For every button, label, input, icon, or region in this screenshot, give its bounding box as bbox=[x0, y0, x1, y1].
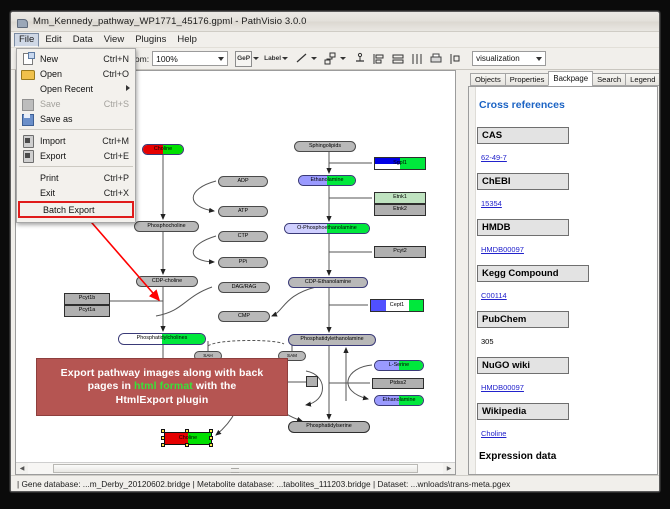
annotation-line-2b: with the bbox=[193, 380, 236, 392]
node-label: Etnk2 bbox=[393, 207, 407, 212]
line-dropdown-icon[interactable] bbox=[311, 57, 317, 60]
menu-item-new[interactable]: New Ctrl+N bbox=[17, 51, 135, 66]
side-panel: Objects Properties Backpage Search Legen… bbox=[460, 70, 658, 475]
pathway-node-ctp[interactable]: CTP bbox=[218, 231, 268, 242]
node-label: Etnk1 bbox=[393, 195, 407, 200]
expression-data-title: Expression data bbox=[479, 451, 649, 462]
xref-block-cas: CAS 62-49-7 bbox=[477, 127, 649, 173]
node-label: Pcyt1b bbox=[79, 296, 95, 301]
interaction-tool-button[interactable] bbox=[322, 51, 339, 67]
chevron-down-icon bbox=[536, 57, 542, 61]
export-icon bbox=[20, 149, 36, 162]
pathway-node-phosphatidylethanolamine[interactable]: Phosphatidylethanolamine bbox=[288, 334, 376, 346]
menu-item-open-recent-label: Open Recent bbox=[40, 84, 135, 94]
save-icon bbox=[20, 97, 36, 110]
open-folder-icon bbox=[20, 67, 36, 80]
node-label: O-Phosphoethanolamine bbox=[297, 226, 357, 231]
blank-icon bbox=[20, 186, 36, 199]
pathway-node-sgpl1[interactable]: Sgpl1 bbox=[374, 157, 426, 170]
backpage-inner: Cross references CAS 62-49-7 ChEBI 15354… bbox=[469, 87, 657, 466]
menu-item-print-label: Print bbox=[40, 173, 104, 183]
xref-block-kegg: Kegg Compound C00114 bbox=[477, 265, 649, 311]
node-label: CTP bbox=[238, 234, 249, 239]
selection-handle-se[interactable] bbox=[209, 443, 213, 447]
pathway-node-l-serine[interactable]: L-Serine bbox=[374, 360, 424, 371]
xref-value-link[interactable]: C00114 bbox=[481, 291, 507, 300]
selection-handle-s[interactable] bbox=[185, 443, 189, 447]
layout-tool-button[interactable] bbox=[446, 51, 463, 67]
cross-references-title: Cross references bbox=[479, 99, 649, 111]
node-label: Choline bbox=[154, 147, 172, 152]
interaction-icon bbox=[324, 52, 337, 65]
pathway-node-o-phosphoethanolamine[interactable]: O-Phosphoethanolamine bbox=[284, 223, 370, 234]
menu-item-export-accel: Ctrl+E bbox=[104, 151, 135, 161]
node-label: Pcyt2 bbox=[393, 249, 406, 254]
node-label: CDP-choline bbox=[152, 279, 182, 284]
pathway-node-ethanolamine-2[interactable]: Ethanolamine bbox=[374, 395, 424, 406]
xref-db-name: ChEBI bbox=[477, 173, 569, 190]
xref-db-name: PubChem bbox=[477, 311, 569, 328]
selection-handle-ne[interactable] bbox=[209, 429, 213, 433]
scroll-right-icon[interactable]: ▶ bbox=[443, 463, 455, 474]
blank-icon bbox=[20, 171, 36, 184]
pathway-node-cept1[interactable]: Cept1 bbox=[370, 299, 424, 312]
anchor-icon bbox=[353, 52, 367, 66]
pathway-node-ptdss2[interactable]: Ptdss2 bbox=[372, 378, 424, 389]
node-label: Phosphatidylethanolamine bbox=[300, 337, 363, 342]
screenshot-root: Mm_Kennedy_pathway_WP1771_45176.gpml - P… bbox=[0, 0, 670, 509]
xref-block-nugo: NuGO wiki HMDB00097 bbox=[477, 357, 649, 403]
menu-item-save-label: Save bbox=[40, 99, 104, 109]
pathway-node-phosphocholine[interactable]: Phosphocholine bbox=[134, 221, 199, 232]
side-panel-tabs: Objects Properties Backpage Search Legen… bbox=[460, 70, 658, 86]
menu-data[interactable]: Data bbox=[68, 33, 98, 47]
pathway-node-ethanolamine-1[interactable]: Ethanolamine bbox=[298, 175, 356, 186]
node-label: PPi bbox=[239, 260, 247, 265]
distribute-tool-button[interactable] bbox=[408, 51, 425, 67]
node-label: DAG/RAG bbox=[232, 285, 257, 290]
annotation-line-3: HtmlExport plugin bbox=[116, 394, 209, 406]
tab-properties[interactable]: Properties bbox=[505, 73, 550, 86]
status-text: | Gene database: ...m_Derby_20120602.bri… bbox=[17, 479, 510, 489]
xref-db-name: Kegg Compound bbox=[477, 265, 589, 282]
scrollbar-track[interactable] bbox=[28, 463, 443, 474]
xref-block-wikipedia: Wikipedia Choline bbox=[477, 403, 649, 449]
pathway-node-pcyt1a[interactable]: Pcyt1a bbox=[64, 305, 110, 317]
menu-item-save-as[interactable]: Save as bbox=[17, 111, 135, 126]
geneproduct-tool-button[interactable]: GeP bbox=[235, 51, 252, 67]
menu-view[interactable]: View bbox=[99, 33, 129, 47]
save-as-icon bbox=[20, 112, 36, 125]
xref-db-name: Wikipedia bbox=[477, 403, 569, 420]
node-label: Sphingolipids bbox=[309, 144, 341, 149]
xref-value-link[interactable]: HMDB00097 bbox=[481, 383, 524, 392]
stack-tool-button[interactable] bbox=[389, 51, 406, 67]
blank-icon bbox=[20, 82, 36, 95]
distribute-icon bbox=[410, 52, 424, 66]
window-title: Mm_Kennedy_pathway_WP1771_45176.gpml - P… bbox=[33, 16, 307, 27]
xref-value-link[interactable]: 62-49-7 bbox=[481, 153, 507, 162]
chevron-right-icon bbox=[126, 85, 130, 91]
xref-value-text: 305 bbox=[481, 337, 494, 346]
geneproduct-dropdown-icon[interactable] bbox=[253, 57, 259, 60]
node-label: ADP bbox=[237, 179, 248, 184]
node-label: Pcyt1a bbox=[79, 308, 95, 313]
pathway-node-phosphatidylserine[interactable]: Phosphatidylserine bbox=[288, 421, 370, 433]
annotation-line-1: Export pathway images along with back bbox=[61, 367, 264, 379]
selection-handle-nw[interactable] bbox=[161, 429, 165, 433]
node-label: Ptdss2 bbox=[390, 381, 406, 386]
print-tool-button[interactable] bbox=[427, 51, 444, 67]
menu-item-save-as-label: Save as bbox=[40, 114, 129, 124]
pathway-node-sphingolipids[interactable]: Sphingolipids bbox=[294, 141, 356, 152]
scrollbar-thumb[interactable] bbox=[53, 464, 418, 473]
pathway-node-dag-rag[interactable]: DAG/RAG bbox=[218, 282, 270, 293]
xref-value-link[interactable]: HMDB00097 bbox=[481, 245, 524, 254]
tab-legend[interactable]: Legend bbox=[625, 73, 660, 86]
application-window: Mm_Kennedy_pathway_WP1771_45176.gpml - P… bbox=[10, 11, 660, 492]
line-tool-button[interactable] bbox=[293, 51, 310, 67]
menu-item-export[interactable]: Export Ctrl+E bbox=[17, 148, 135, 163]
xref-db-name: NuGO wiki bbox=[477, 357, 569, 374]
zoom-combobox[interactable]: 100% bbox=[152, 51, 228, 66]
selection-handle-e[interactable] bbox=[209, 436, 213, 440]
node-label: SAM bbox=[287, 354, 297, 359]
zoom-value: 100% bbox=[156, 54, 178, 64]
tab-search[interactable]: Search bbox=[592, 73, 626, 86]
node-label: CDP-Ethanolamine bbox=[305, 280, 351, 285]
status-bar: | Gene database: ...m_Derby_20120602.bri… bbox=[11, 475, 660, 491]
new-file-icon bbox=[20, 52, 36, 65]
menu-item-new-label: New bbox=[40, 54, 103, 64]
menu-item-exit-label: Exit bbox=[40, 188, 104, 198]
import-icon bbox=[20, 134, 36, 147]
label-icon: Label bbox=[264, 55, 281, 62]
node-label: Phosphocholine bbox=[147, 224, 185, 229]
tab-backpage[interactable]: Backpage bbox=[548, 71, 593, 86]
pathvisio-icon bbox=[16, 16, 28, 28]
align-tool-button[interactable] bbox=[370, 51, 387, 67]
menu-item-batch-export[interactable]: Batch Export bbox=[18, 201, 134, 218]
pathway-node-etnk2[interactable]: Etnk2 bbox=[374, 204, 426, 216]
menu-separator bbox=[19, 129, 133, 130]
canvas-horizontal-scrollbar[interactable]: ◀ ▶ bbox=[16, 462, 455, 474]
annotation-highlight: html format bbox=[134, 380, 193, 392]
node-label: L-Serine bbox=[389, 363, 409, 368]
menu-item-export-label: Export bbox=[40, 151, 104, 161]
xref-block-pubchem: PubChem 305 bbox=[477, 311, 649, 357]
tab-objects[interactable]: Objects bbox=[470, 73, 506, 86]
stack-icon bbox=[391, 52, 405, 66]
menu-item-open-recent[interactable]: Open Recent bbox=[17, 81, 135, 96]
selection-handle-w[interactable] bbox=[161, 436, 165, 440]
menu-item-import[interactable]: Import Ctrl+M bbox=[17, 133, 135, 148]
file-menu-dropdown: New Ctrl+N Open Ctrl+O Open Recent Save … bbox=[16, 48, 136, 223]
annotation-line-2a: pages in bbox=[88, 380, 134, 392]
node-label: Ethanolamine bbox=[383, 398, 416, 403]
menu-item-print-accel: Ctrl+P bbox=[104, 173, 135, 183]
pathway-node-pcyt1b[interactable]: Pcyt1b bbox=[64, 293, 110, 305]
node-label: Sgpl1 bbox=[393, 161, 407, 166]
line-icon bbox=[295, 52, 308, 65]
blank-icon bbox=[23, 203, 39, 216]
backpage-content: Cross references CAS 62-49-7 ChEBI 15354… bbox=[468, 86, 658, 475]
menu-separator bbox=[19, 166, 133, 167]
printer-icon bbox=[429, 52, 443, 66]
menu-file[interactable]: File bbox=[14, 33, 39, 47]
node-label: Phosphatidylserine bbox=[306, 424, 352, 429]
pathway-node-adp[interactable]: ADP bbox=[218, 176, 268, 187]
pathway-node-pcyt2[interactable]: Pcyt2 bbox=[374, 246, 426, 258]
pathway-node-phosphatidylcholines[interactable]: Phosphatidylcholines bbox=[118, 333, 206, 345]
visualization-combobox[interactable]: visualization bbox=[472, 51, 546, 66]
geneproduct-icon: GeP bbox=[237, 55, 250, 62]
pathway-node-cmp[interactable]: CMP bbox=[218, 311, 270, 322]
selection-handle-n[interactable] bbox=[185, 429, 189, 433]
node-label: ATP bbox=[238, 209, 248, 214]
pathway-node-pemt[interactable] bbox=[306, 376, 318, 387]
menu-item-open-accel: Ctrl+O bbox=[103, 69, 135, 79]
node-label: Phosphatidylcholines bbox=[137, 336, 188, 341]
menu-bar: File Edit Data View Plugins Help bbox=[11, 32, 659, 48]
menu-item-import-label: Import bbox=[40, 136, 102, 146]
menu-help[interactable]: Help bbox=[172, 33, 202, 47]
menu-item-save-accel: Ctrl+S bbox=[104, 99, 135, 109]
pathway-node-etnk1[interactable]: Etnk1 bbox=[374, 192, 426, 204]
node-label: CMP bbox=[238, 314, 250, 319]
chevron-down-icon bbox=[218, 57, 224, 61]
xref-db-name: HMDB bbox=[477, 219, 569, 236]
xref-db-name: CAS bbox=[477, 127, 569, 144]
pathway-node-ppi[interactable]: PPi bbox=[218, 257, 268, 268]
label-tool-button[interactable]: Label bbox=[264, 51, 281, 67]
pathway-node-atp[interactable]: ATP bbox=[218, 206, 268, 217]
menu-item-exit-accel: Ctrl+X bbox=[104, 188, 135, 198]
menu-item-open-label: Open bbox=[40, 69, 103, 79]
menu-item-import-accel: Ctrl+M bbox=[102, 136, 135, 146]
visualization-value: visualization bbox=[476, 54, 520, 63]
xref-block-chebi: ChEBI 15354 bbox=[477, 173, 649, 219]
annotation-text: Export pathway images along with back pa… bbox=[61, 367, 264, 408]
title-bar: Mm_Kennedy_pathway_WP1771_45176.gpml - P… bbox=[11, 12, 659, 32]
xref-block-hmdb: HMDB HMDB00097 bbox=[477, 219, 649, 265]
xref-value-link[interactable]: 15354 bbox=[481, 199, 502, 208]
menu-edit[interactable]: Edit bbox=[40, 33, 66, 47]
interaction-dropdown-icon[interactable] bbox=[340, 57, 346, 60]
menu-item-batch-export-label: Batch Export bbox=[43, 205, 132, 215]
menu-plugins[interactable]: Plugins bbox=[130, 33, 171, 47]
label-dropdown-icon[interactable] bbox=[282, 57, 288, 60]
menu-item-save: Save Ctrl+S bbox=[17, 96, 135, 111]
pathway-node-cdp-choline[interactable]: CDP-choline bbox=[136, 276, 198, 287]
menu-item-new-accel: Ctrl+N bbox=[103, 54, 135, 64]
annotation-callout: Export pathway images along with back pa… bbox=[36, 358, 288, 416]
scroll-left-icon[interactable]: ◀ bbox=[16, 463, 28, 474]
menu-item-print[interactable]: Print Ctrl+P bbox=[17, 170, 135, 185]
node-label: Ethanolamine bbox=[311, 178, 344, 183]
selection-handle-sw[interactable] bbox=[161, 443, 165, 447]
node-label: Choline bbox=[179, 436, 197, 441]
layout-icon bbox=[448, 52, 462, 66]
xref-value-link[interactable]: Choline bbox=[481, 429, 506, 438]
menu-item-exit[interactable]: Exit Ctrl+X bbox=[17, 185, 135, 200]
backpage-scrollbar[interactable] bbox=[469, 87, 476, 474]
pathway-node-cdp-ethanolamine[interactable]: CDP-Ethanolamine bbox=[288, 277, 368, 288]
align-icon bbox=[372, 52, 386, 66]
node-label: Cept1 bbox=[390, 303, 404, 308]
pathway-node-choline-top[interactable]: Choline bbox=[142, 144, 184, 155]
anchor-tool-button[interactable] bbox=[351, 51, 368, 67]
menu-item-open[interactable]: Open Ctrl+O bbox=[17, 66, 135, 81]
